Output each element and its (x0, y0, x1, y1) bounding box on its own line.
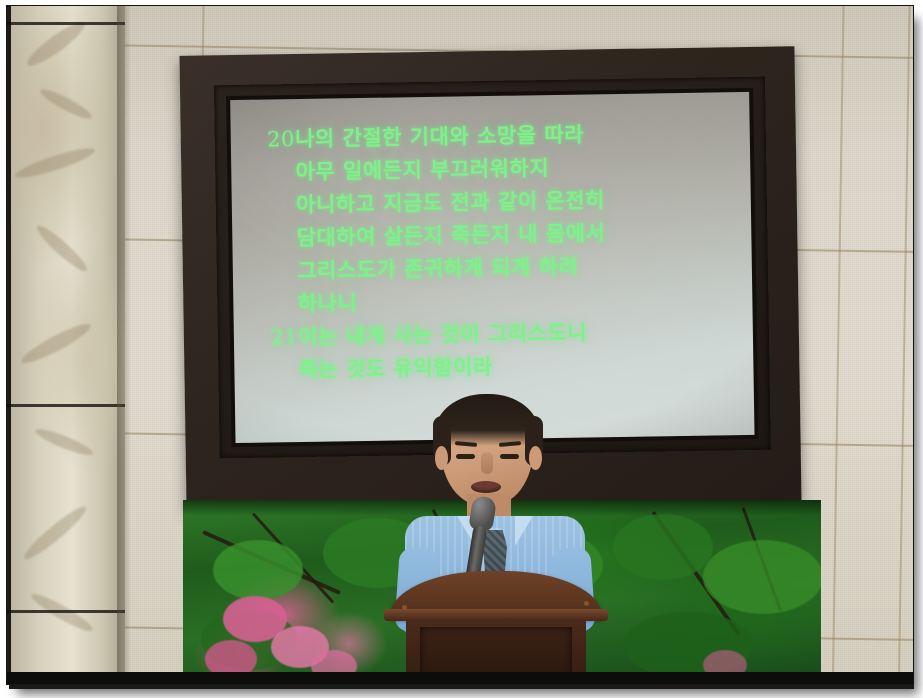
wooden-pulpit (390, 571, 602, 685)
speaker-ear (435, 446, 448, 470)
photo-white-matte: 20나의 간절한 기대와 소망을 따라 아무 일에든지 부끄러워하지 아니하고 … (0, 0, 923, 698)
verse-text: 아무 일에든지 부끄러워하지 (295, 156, 549, 184)
speaker-eye (456, 454, 475, 459)
foliage-cluster (703, 540, 821, 614)
verse-text: 나의 간절한 기대와 소망을 따라 (295, 123, 584, 152)
verse-number: 20 (267, 123, 296, 156)
foliage-cluster (213, 540, 303, 600)
column-joint-band (7, 610, 125, 613)
projected-verse-text: 20나의 간절한 기대와 소망을 따라 아무 일에든지 부끄러워하지 아니하고 … (267, 116, 733, 387)
column-shadow-edge (117, 6, 131, 684)
verse-text: 이는 내게 사는 것이 그리스도니 (298, 320, 587, 349)
marble-vein (23, 17, 89, 71)
verse-number: 21 (270, 321, 299, 354)
verse-text: 그리스도가 존귀하게 되게 하려 (297, 255, 578, 283)
marble-vein (13, 143, 97, 182)
verse-text: 하나니 (298, 291, 358, 316)
pulpit-screw (402, 605, 407, 610)
photograph: 20나의 간절한 기대와 소망을 따라 아무 일에든지 부끄러워하지 아니하고 … (6, 5, 914, 685)
marble-vein (20, 502, 90, 564)
column-joint-band (7, 22, 125, 25)
pulpit-screw (584, 601, 589, 606)
column-joint-band (7, 404, 125, 407)
verse-text: 아니하고 지금도 전과 같이 온전히 (296, 188, 605, 217)
photo-left-edge (7, 6, 11, 684)
marble-vein (18, 319, 94, 369)
speaker-nose (481, 452, 493, 474)
speaker-mouth (471, 481, 501, 493)
marble-vein (38, 85, 95, 123)
verse-text: 담대하여 살든지 죽든지 내 몸에서 (296, 221, 605, 250)
marble-vein (33, 222, 91, 276)
verse-text: 죽는 것도 유익함이라 (299, 355, 493, 382)
projection-surface: 20나의 간절한 기대와 소망을 따라 아무 일에든지 부끄러워하지 아니하고 … (230, 92, 754, 443)
marble-vein (33, 425, 95, 459)
speaker-eye (500, 454, 519, 459)
speaker-ear (529, 446, 542, 470)
marble-column (7, 6, 125, 684)
photo-bottom-edge (7, 672, 913, 684)
shirt-collar-right (515, 516, 533, 546)
foliage-cluster (613, 514, 713, 580)
